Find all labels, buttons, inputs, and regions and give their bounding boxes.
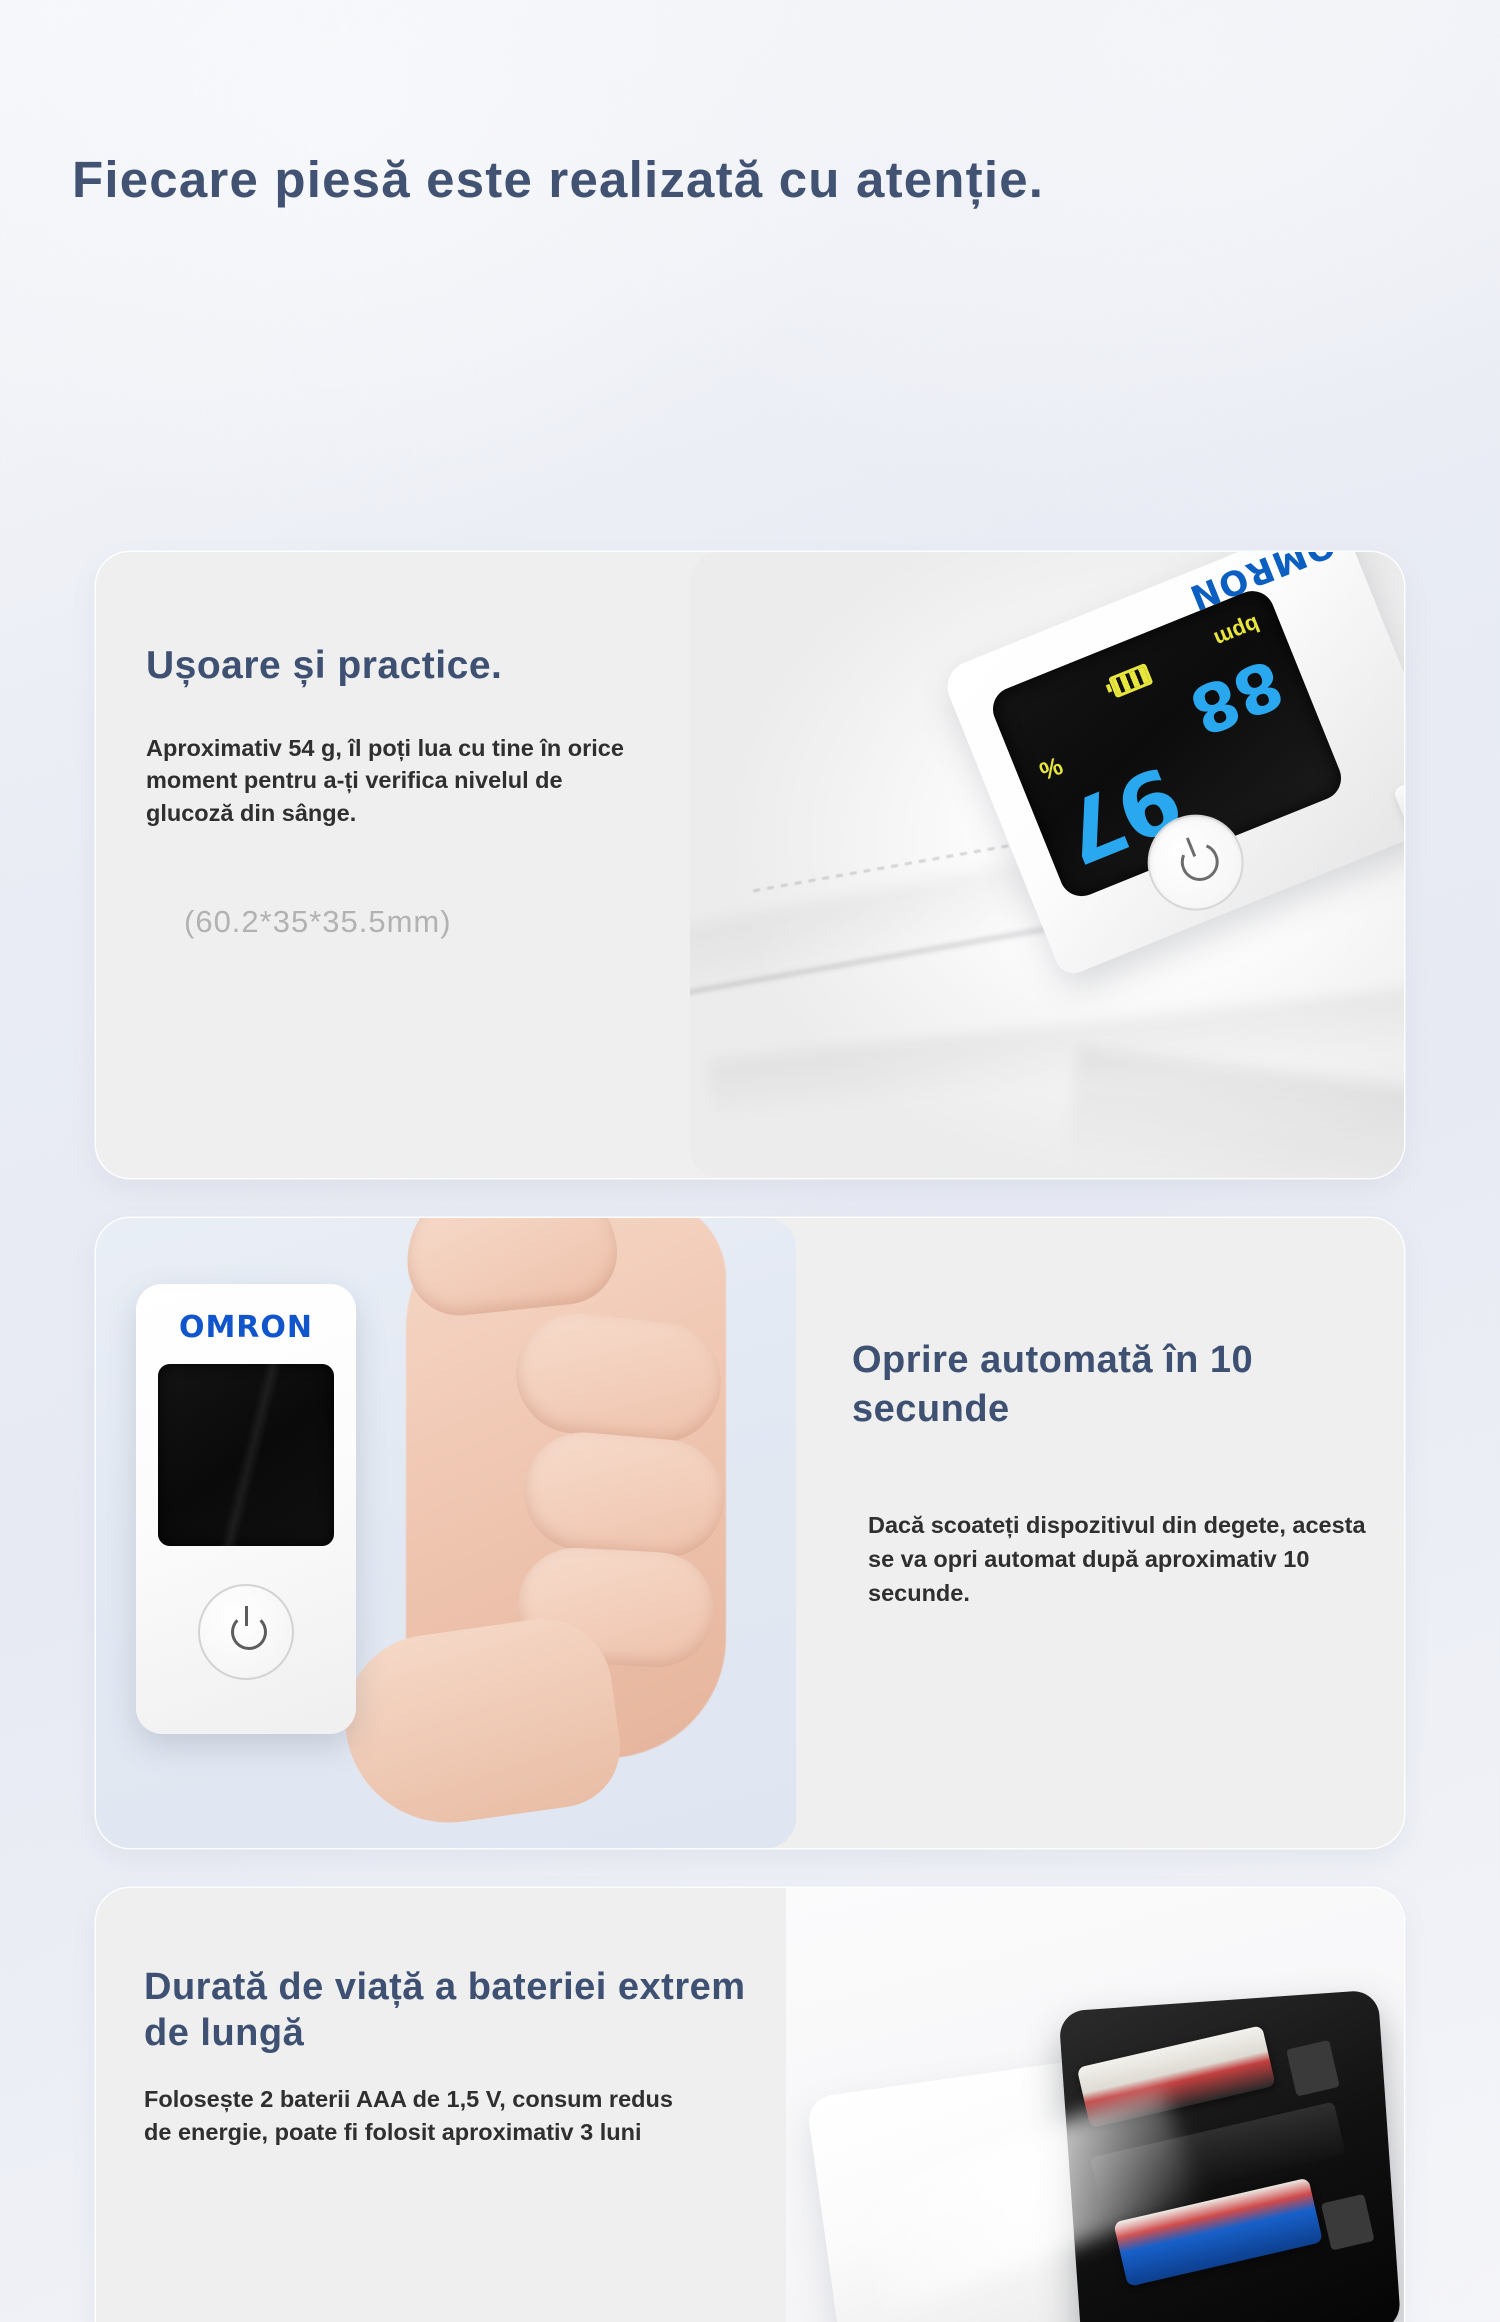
pulse-unit: bpm (1210, 611, 1263, 653)
card2-text-pane: Oprire automată în 10 secunde Dacă scoat… (796, 1218, 1404, 1848)
card2-heading: Oprire automată în 10 secunde (852, 1336, 1404, 1433)
feature-card-battery-life: Durată de viață a bateriei extrem de lun… (96, 1888, 1404, 2322)
card1-text-pane: Ușoare și practice. Aproximativ 54 g, îl… (96, 552, 696, 1178)
feature-card-lightweight: Ușoare și practice. Aproximativ 54 g, îl… (96, 552, 1404, 1178)
oximeter-device: OMRON (136, 1284, 356, 1734)
feature-card-auto-off: OMRON Oprire automată în 10 secunde Dacă… (96, 1218, 1404, 1848)
hand-holding-oximeter-photo: OMRON (96, 1218, 796, 1848)
card3-text-pane: Durată de viață a bateriei extrem de lun… (96, 1888, 786, 2322)
omron-logo: OMRON (136, 1310, 356, 1345)
battery-icon (1108, 663, 1153, 698)
card1-dimensions-note: (60.2*35*35.5mm) (184, 904, 696, 940)
pulse-value: 88 (1181, 648, 1291, 744)
oximeter-in-shirt-pocket-photo: OMRON 97 % 88 bpm (690, 552, 1404, 1178)
battery-contact (1286, 2040, 1340, 2097)
battery-contact (1321, 2194, 1375, 2251)
spo2-unit: % (1035, 750, 1066, 785)
fabric-fold (1064, 1047, 1404, 1178)
product-feature-page: Fiecare piesă este realizată cu atenție.… (0, 0, 1500, 2322)
card3-heading: Durată de viață a bateriei extrem de lun… (144, 1964, 786, 2057)
card2-body: Dacă scoateți dispozitivul din degete, a… (868, 1509, 1368, 1610)
card1-body: Aproximativ 54 g, îl poți lua cu tine în… (146, 732, 626, 829)
card3-body: Folosește 2 baterii AAA de 1,5 V, consum… (144, 2083, 674, 2150)
power-icon (198, 1584, 294, 1680)
device-with-open-battery-bay (799, 1971, 1404, 2322)
battery-compartment-photo (786, 1888, 1404, 2322)
page-title: Fiecare piesă este realizată cu atenție. (72, 150, 1044, 209)
device-screen-off (158, 1364, 334, 1546)
card1-heading: Ușoare și practice. (146, 644, 696, 688)
thumb (334, 1610, 628, 1836)
